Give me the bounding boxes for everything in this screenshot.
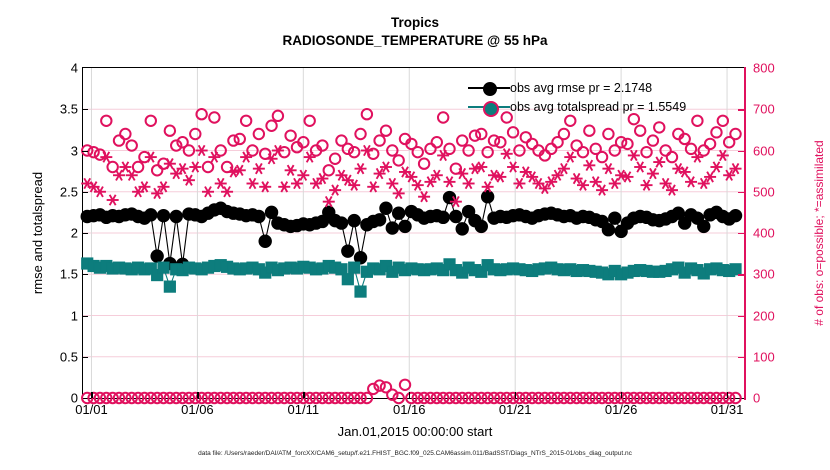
x-axis-tick [303,392,304,398]
x-axis-tick-label: 01/01 [75,402,108,417]
x-axis-tick-label: 01/16 [393,402,426,417]
plot-area [82,67,745,399]
legend-item-totalspread[interactable]: obs avg totalspread pr = 1.5549 [468,97,740,116]
y-axis-right-tick-label: 800 [753,61,775,76]
y-axis-right-tick-label: 400 [753,226,775,241]
x-axis-tick-label: 01/26 [605,402,638,417]
x-axis-title: Jan.01,2015 00:00:00 start [0,424,830,439]
legend-label-rmse: obs avg rmse pr = 2.1748 [510,81,652,95]
y-axis-left-tick [82,109,88,110]
y-axis-right-tick [738,274,745,275]
legend-item-rmse[interactable]: obs avg rmse pr = 2.1748 [468,78,740,97]
legend-label-totalspread: obs avg totalspread pr = 1.5549 [510,100,686,114]
chart-title: Tropics RADIOSONDE_TEMPERATURE @ 55 hPa [0,14,830,50]
y-axis-left-tick [82,357,88,358]
x-axis-tick [515,392,516,398]
y-axis-right-tick-label: 700 [753,102,775,117]
y-axis-right-tick-label: 300 [753,267,775,282]
y-axis-left-tick-label: 2 [71,226,78,241]
y-axis-right-title: # of obs: o=possible; *=assimilated [812,140,826,325]
x-axis-tick-label: 01/06 [181,402,214,417]
y-axis-left-tick-label: 3 [71,143,78,158]
y-axis-right-tick [738,192,745,193]
x-axis-tick [91,392,92,398]
y-axis-right-tick [738,316,745,317]
y-axis-right-tick-label: 500 [753,184,775,199]
data-file-footer: data file: /Users/raeder/DAI/ATM_forcXX/… [0,450,830,457]
y-axis-left-tick [82,233,88,234]
y-axis-right-tick [738,151,745,152]
y-axis-right-tick-label: 200 [753,308,775,323]
chart-title-variable: RADIOSONDE_TEMPERATURE @ 55 hPa [0,31,830,50]
y-axis-left-tick-label: 1 [71,308,78,323]
y-axis-left-tick-label: 2.5 [60,184,78,199]
y-axis-left-tick [82,151,88,152]
y-axis-right-tick-label: 0 [753,391,760,406]
chart-title-region: Tropics [0,14,830,31]
x-axis-tick [621,392,622,398]
y-axis-left-tick-label: 1.5 [60,267,78,282]
y-axis-right-tick-label: 100 [753,349,775,364]
x-axis-tick-label: 01/11 [288,402,320,417]
chart-page: Tropics RADIOSONDE_TEMPERATURE @ 55 hPa … [0,0,830,470]
y-axis-left-tick-label: 3.5 [60,102,78,117]
y-axis-left-title: rmse and totalspread [30,172,45,294]
legend-marker-totalspread [468,97,510,116]
chart-legend: obs avg rmse pr = 2.1748 obs avg totalsp… [468,78,740,116]
x-axis-tick [409,392,410,398]
x-axis-tick [727,392,728,398]
x-axis-tick [197,392,198,398]
y-axis-left-tick [82,316,88,317]
y-axis-left-tick-label: 4 [71,61,78,76]
y-axis-right-tick [738,357,745,358]
data-series-layer [83,68,744,398]
y-axis-left-tick [82,274,88,275]
legend-marker-rmse [468,78,510,97]
y-axis-right-tick-label: 600 [753,143,775,158]
y-axis-right-tick [738,233,745,234]
y-axis-left-tick [82,192,88,193]
x-axis-tick-label: 01/21 [499,402,532,417]
x-axis-tick-label: 01/31 [711,402,744,417]
y-axis-left-tick-label: 0.5 [60,349,78,364]
